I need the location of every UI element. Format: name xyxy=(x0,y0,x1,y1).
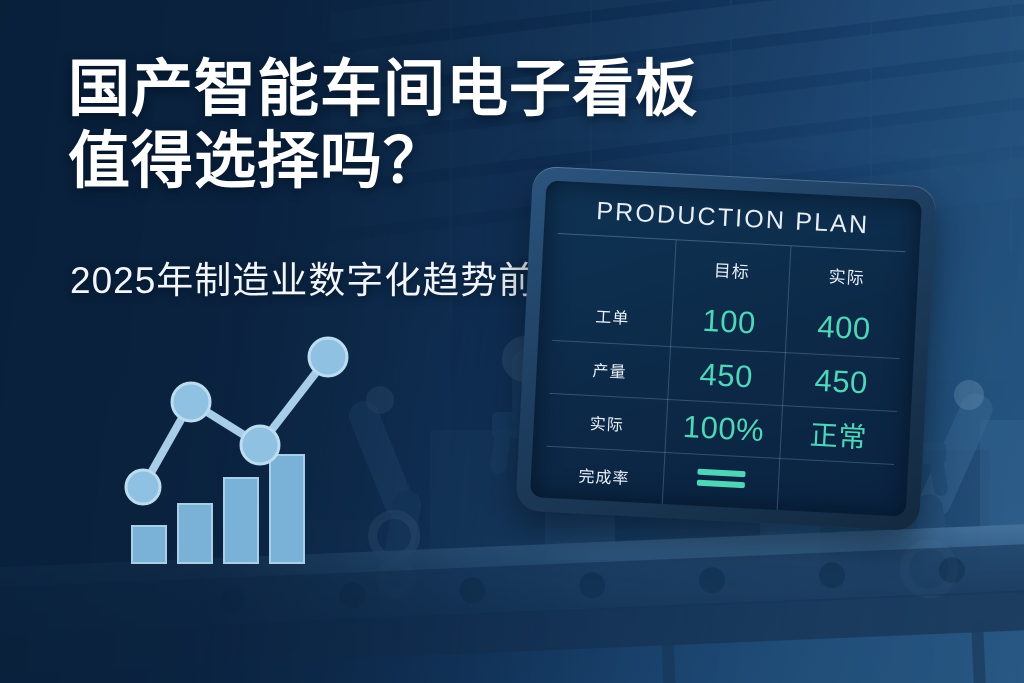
row-target-value: 100 xyxy=(670,293,787,352)
headline-line-1: 国产智能车间电子看板 xyxy=(68,54,928,126)
row-actual-value: 400 xyxy=(785,299,902,358)
chart-point xyxy=(241,426,279,464)
production-plan-board: PRODUCTION PLAN 目标 实际 工单 xyxy=(515,166,937,532)
row-label: 产量 xyxy=(549,340,670,399)
chart-point xyxy=(172,383,210,421)
row-label: 工单 xyxy=(552,287,673,346)
chart-bar xyxy=(224,478,258,563)
subtitle: 2025年制造业数字化趋势前瞻 xyxy=(70,258,574,304)
board-screen: PRODUCTION PLAN 目标 实际 工单 xyxy=(530,180,922,516)
status-badge: 正常 xyxy=(779,405,896,464)
row-target-value: 100% xyxy=(665,399,782,458)
chart-bar xyxy=(132,526,166,563)
row-actual-value xyxy=(777,458,894,517)
column-header-target: 目标 xyxy=(673,240,790,299)
chart-bar xyxy=(270,455,304,563)
poster-canvas: 国产智能车间电子看板 值得选择吗？ 2025年制造业数字化趋势前瞻 xyxy=(0,0,1024,683)
chart-bars xyxy=(132,455,304,563)
row-target-value xyxy=(662,452,779,511)
chart-bar xyxy=(178,504,212,563)
row-label: 完成率 xyxy=(544,446,665,505)
growth-chart-graphic xyxy=(108,330,428,565)
board-frame: PRODUCTION PLAN 目标 实际 工单 xyxy=(515,166,937,532)
headline-block: 国产智能车间电子看板 值得选择吗？ xyxy=(68,54,928,198)
chart-point xyxy=(126,470,160,504)
production-plan-table: 目标 实际 工单 100 400 产量 450 450 xyxy=(544,234,905,517)
equals-mark-icon xyxy=(696,463,745,492)
growth-chart-svg xyxy=(108,330,428,565)
row-label: 实际 xyxy=(547,393,668,452)
chart-point xyxy=(309,338,347,376)
row-target-value: 450 xyxy=(668,346,785,405)
row-actual-value: 450 xyxy=(782,352,899,411)
column-header-blank xyxy=(555,234,676,293)
column-header-actual: 实际 xyxy=(788,246,905,305)
